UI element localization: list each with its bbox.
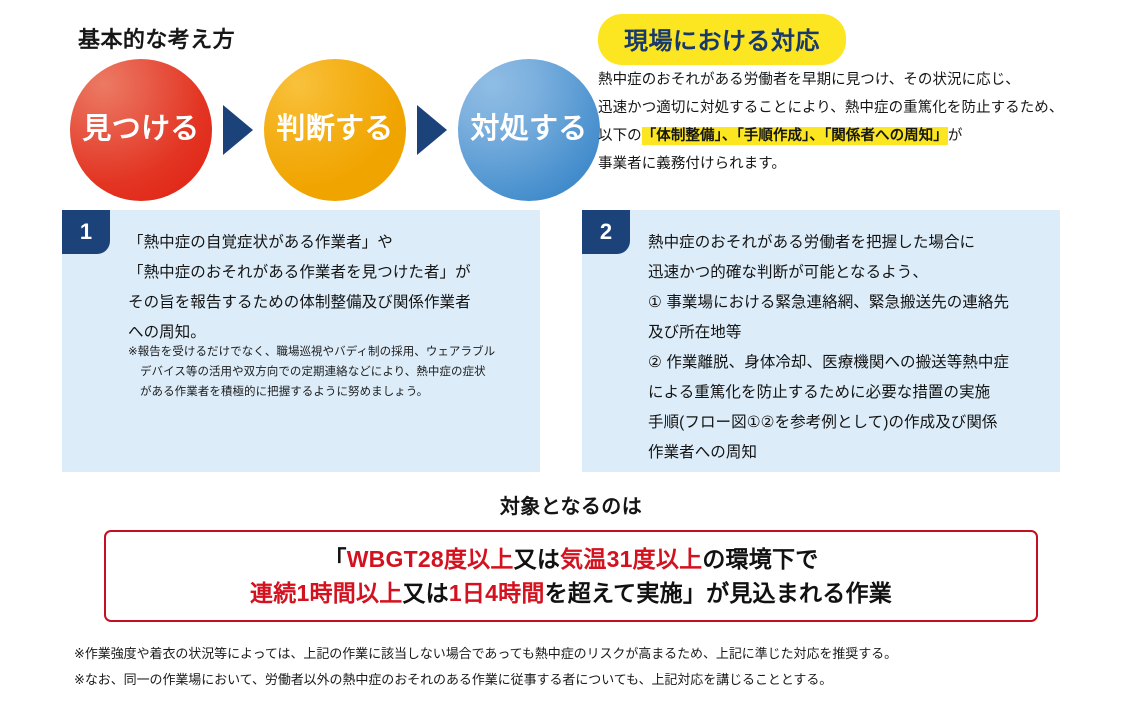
basic-approach-title: 基本的な考え方 [78, 22, 235, 54]
criteria-seg-accent: 気温31度以上 [560, 546, 702, 572]
footnotes: ※作業強度や着衣の状況等によっては、上記の作業に該当しない場合であっても熱中症の… [74, 641, 1084, 693]
target-criteria-box: 「WBGT28度以上又は気温31度以上の環境下で 連続1時間以上又は1日4時間を… [104, 530, 1038, 622]
footnote-line: ※なお、同一の作業場において、労働者以外の熱中症のおそれのある作業に従事する者に… [74, 667, 1084, 693]
panel-1-number-badge: 1 [62, 210, 110, 254]
requirement-panel-1: 1 「熱中症の自覚症状がある作業者」や 「熱中症のおそれがある作業者を見つけた者… [62, 210, 540, 472]
panel-1-note: ※報告を受けるだけでなく、職場巡視やバディ制の採用、ウェアラブル デバイス等の活… [128, 342, 524, 402]
onsite-response-badge: 現場における対応 [598, 14, 846, 65]
onsite-paragraph-line-3: 以下の「体制整備」、「手順作成」、「関係者への周知」が [598, 122, 1118, 150]
criteria-seg: を超えて実施」が見込まれる作業 [545, 580, 892, 606]
target-heading: 対象となるのは [0, 490, 1142, 519]
step-label-act: 対処する [470, 115, 587, 144]
criteria-seg: 又は [514, 546, 560, 572]
step-label-find: 見つける [82, 115, 199, 144]
panel-2-body-line: ② 作業離脱、身体冷却、医療機関への搬送等熱中症 [648, 348, 1046, 378]
criteria-seg: の環境下で [702, 546, 818, 572]
criteria-seg-accent: 連続1時間以上 [250, 580, 402, 606]
footnote-line: ※作業強度や着衣の状況等によっては、上記の作業に該当しない場合であっても熱中症の… [74, 641, 1084, 667]
criteria-seg: 「 [324, 546, 347, 572]
panel-1-note-line: デバイス等の活用や双方向での定期連絡などにより、熱中症の症状 [128, 362, 524, 382]
onsite-line3-prefix: 以下の [598, 128, 642, 144]
panel-2-body-line: 迅速かつ的確な判断が可能となるよう、 [648, 258, 1046, 288]
panel-1-note-line: がある作業者を積極的に把握するように努めましょう。 [128, 382, 524, 402]
panel-2-body-line: 手順(フロー図①②を参考例として)の作成及び関係 [648, 408, 1046, 438]
onsite-line3-highlight: 「体制整備」、「手順作成」、「関係者への周知」 [642, 127, 948, 145]
criteria-seg-accent: WBGT28度以上 [347, 546, 514, 572]
step-label-judge: 判断する [276, 115, 393, 144]
panel-2-body-line: ① 事業場における緊急連絡網、緊急搬送先の連絡先 [648, 288, 1046, 318]
step-circle-act: 対処する [458, 59, 600, 201]
target-criteria-line-2: 連続1時間以上又は1日4時間を超えて実施」が見込まれる作業 [250, 576, 892, 610]
onsite-line3-suffix: が [948, 128, 963, 144]
criteria-seg: 又は [402, 580, 448, 606]
panel-2-number-badge: 2 [582, 210, 630, 254]
basic-approach-flow: 見つける 判断する 対処する [70, 57, 590, 202]
target-criteria-line-1: 「WBGT28度以上又は気温31度以上の環境下で [324, 542, 819, 576]
panel-2-body-line: 及び所在地等 [648, 318, 1046, 348]
onsite-response-paragraph: 熱中症のおそれがある労働者を早期に見つけ、その状況に応じ、 迅速かつ適切に対処す… [598, 66, 1118, 178]
onsite-paragraph-line-1: 熱中症のおそれがある労働者を早期に見つけ、その状況に応じ、 [598, 66, 1118, 94]
panel-1-body-line: その旨を報告するための体制整備及び関係作業者 [128, 288, 526, 318]
panel-1-note-line: ※報告を受けるだけでなく、職場巡視やバディ制の採用、ウェアラブル [128, 342, 524, 362]
panel-2-body: 熱中症のおそれがある労働者を把握した場合に 迅速かつ的確な判断が可能となるよう、… [648, 228, 1046, 468]
onsite-paragraph-line-2: 迅速かつ適切に対処することにより、熱中症の重篤化を防止するため、 [598, 94, 1118, 122]
flow-arrow-right-icon [223, 105, 253, 155]
panel-2-body-line: 作業者への周知 [648, 438, 1046, 468]
step-circle-find: 見つける [70, 59, 212, 201]
panel-1-body: 「熱中症の自覚症状がある作業者」や 「熱中症のおそれがある作業者を見つけた者」が… [128, 228, 526, 348]
flow-arrow-right-icon [417, 105, 447, 155]
criteria-seg-accent: 1日4時間 [449, 580, 545, 606]
panel-2-body-line: による重篤化を防止するために必要な措置の実施 [648, 378, 1046, 408]
requirement-panel-2: 2 熱中症のおそれがある労働者を把握した場合に 迅速かつ的確な判断が可能となるよ… [582, 210, 1060, 472]
infographic-page: 基本的な考え方 見つける 判断する 対処する 現場における対応 熱中症のおそれが… [0, 0, 1142, 724]
panel-1-body-line: 「熱中症のおそれがある作業者を見つけた者」が [128, 258, 526, 288]
step-circle-judge: 判断する [264, 59, 406, 201]
panel-2-body-line: 熱中症のおそれがある労働者を把握した場合に [648, 228, 1046, 258]
onsite-paragraph-line-4: 事業者に義務付けられます。 [598, 150, 1118, 178]
panel-1-body-line: 「熱中症の自覚症状がある作業者」や [128, 228, 526, 258]
